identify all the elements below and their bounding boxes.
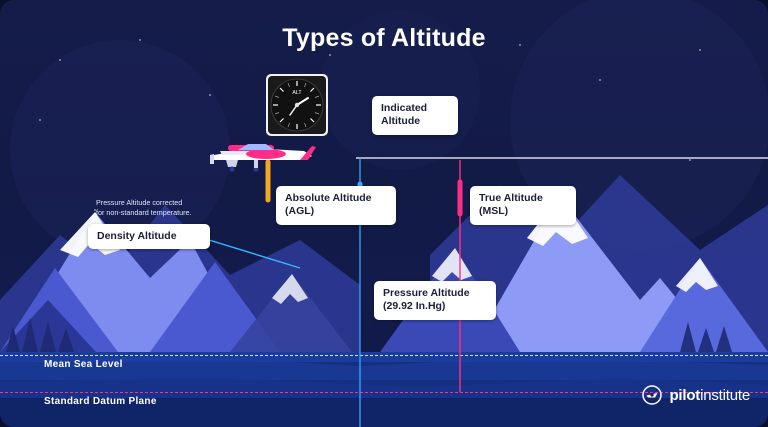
label-true-line2: (MSL)	[479, 205, 567, 218]
label-absolute-line2: (AGL)	[285, 205, 387, 218]
label-indicated-line2: Altitude	[381, 115, 449, 128]
infographic-frame: Types of Altitude	[0, 0, 768, 427]
brand-name-thin: institute	[700, 387, 750, 404]
label-density-line1: Density Altitude	[97, 230, 201, 243]
label-indicated-line1: Indicated	[381, 102, 449, 115]
density-altitude-note: Pressure Altitude corrected for non-stan…	[96, 198, 216, 217]
label-pressure-line1: Pressure Altitude	[383, 287, 487, 300]
label-indicated-altitude[interactable]: Indicated Altitude	[372, 96, 458, 135]
label-absolute-line1: Absolute Altitude	[285, 192, 387, 205]
density-note-line1: Pressure Altitude corrected	[96, 198, 182, 207]
brand-logo[interactable]: pilotinstitute	[642, 385, 750, 405]
density-note-line2: for non-standard temperature.	[96, 208, 192, 217]
brand-name: pilotinstitute	[669, 387, 750, 404]
pilotinstitute-logo-icon	[642, 385, 662, 405]
label-density-altitude[interactable]: Density Altitude	[88, 224, 210, 249]
altimeter-face-label: ALT	[292, 90, 302, 96]
label-absolute-altitude[interactable]: Absolute Altitude (AGL)	[276, 186, 396, 225]
brand-name-bold: pilot	[669, 387, 700, 404]
label-pressure-line2: (29.92 In.Hg)	[383, 300, 487, 313]
label-true-altitude[interactable]: True Altitude (MSL)	[470, 186, 576, 225]
infographic-root: Types of Altitude	[0, 0, 768, 427]
label-true-line1: True Altitude	[479, 192, 567, 205]
label-pressure-altitude[interactable]: Pressure Altitude (29.92 In.Hg)	[374, 281, 496, 320]
altimeter-gauge: ALT	[266, 74, 328, 136]
